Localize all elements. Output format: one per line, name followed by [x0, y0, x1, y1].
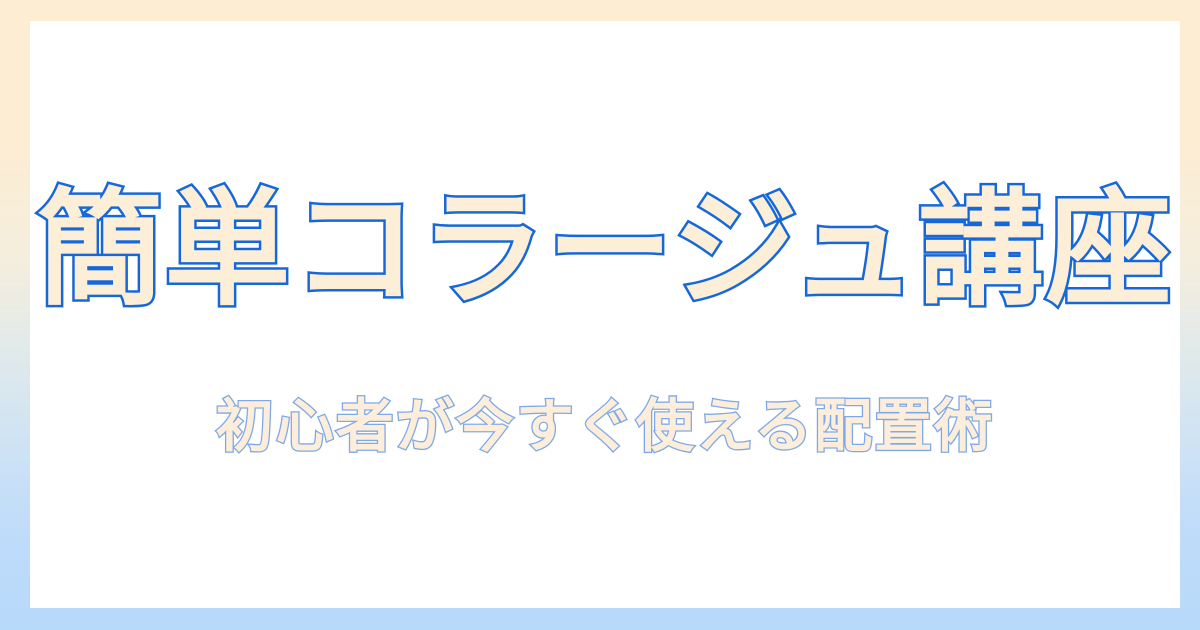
poster-canvas: 簡単コラージュ講座 初心者が今すぐ使える配置術	[0, 0, 1200, 630]
title-block: 簡単コラージュ講座	[37, 175, 1173, 325]
subtitle-block: 初心者が今すぐ使える配置術	[216, 387, 995, 467]
poster-card: 簡単コラージュ講座 初心者が今すぐ使える配置術	[30, 21, 1180, 608]
page-title: 簡単コラージュ講座	[37, 183, 1173, 317]
page-subtitle: 初心者が今すぐ使える配置術	[216, 395, 995, 459]
poster-content: 簡単コラージュ講座 初心者が今すぐ使える配置術	[30, 21, 1180, 608]
